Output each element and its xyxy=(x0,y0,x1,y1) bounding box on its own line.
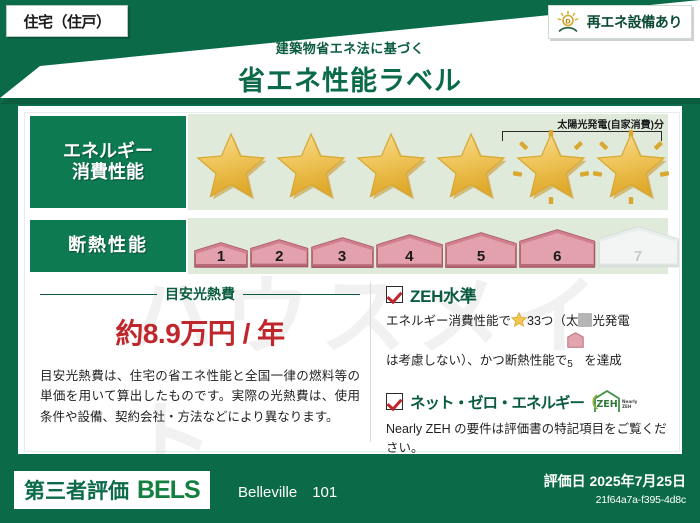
obscured-character-blot xyxy=(578,313,592,327)
svg-text:ZEH: ZEH xyxy=(596,399,617,410)
insulation-level-house: 3 xyxy=(311,237,374,268)
bels-plate: 第三者評価 BELS xyxy=(14,471,210,509)
evaluation-date: 評価日 2025年7月25日 xyxy=(544,471,686,491)
energy-star-icon xyxy=(352,130,430,204)
net-zero-energy-row: ネット・ゼロ・エネルギー ZEH Nearly ZEH xyxy=(386,389,672,415)
insulation-level-number: 3 xyxy=(311,248,374,265)
label-card: ハウスメイト エネルギー 消費性能 太陽光発電(自家消費)分 断熱性能 1234… xyxy=(16,104,684,456)
energy-tag-line1: エネルギー xyxy=(63,141,153,162)
insulation-level-scale: 1234567 xyxy=(188,218,684,274)
insulation-performance-tag: 断熱性能 xyxy=(28,218,188,274)
net-zero-energy-description: Nearly ZEH の要件は評価書の特記項目をご覧ください。 xyxy=(386,420,672,457)
heading-rule-left xyxy=(40,294,157,295)
zeh-standard-row: ZEH水準 xyxy=(386,282,672,307)
insulation-level-number: 1 xyxy=(194,248,248,265)
insulation-performance-row: 断熱性能 1234567 xyxy=(28,218,668,274)
energy-star-icon xyxy=(432,130,510,204)
building-name: Belleville 101 xyxy=(238,481,337,502)
insulation-level-number: 6 xyxy=(519,248,596,265)
header-titles: 建築物省エネ法に基づく 省エネ性能ラベル xyxy=(0,38,700,98)
label-footer: 第三者評価 BELS Belleville 101 評価日 2025年7月25日… xyxy=(0,461,700,523)
zeh-desc-part-d: は考慮しない）、かつ断熱性能で xyxy=(386,353,567,367)
header-subtitle: 建築物省エネ法に基づく xyxy=(0,38,700,57)
card-vertical-divider xyxy=(370,282,371,442)
evaluation-id: 21f64a7a-f395-4d8c xyxy=(544,494,686,506)
net-zero-energy-title: ネット・ゼロ・エネルギー xyxy=(410,391,584,413)
zeh-logo-icon: ZEH Nearly ZEH xyxy=(591,389,637,415)
insulation-level-house: 1 xyxy=(194,242,248,268)
insulation-level-number: 2 xyxy=(250,248,309,265)
insulation-level-house: 5 xyxy=(445,232,517,268)
bels-en-label: BELS xyxy=(137,476,200,505)
zeh-desc-part-a: エネルギー消費性能で xyxy=(386,314,511,328)
evaluation-info: 評価日 2025年7月25日 21f64a7a-f395-4d8c xyxy=(544,471,686,506)
solar-star-icon xyxy=(512,130,590,204)
utility-cost-note: 目安光熱費は、住宅の省エネ性能と全国一律の燃料等の単価を用いて算出したものです。… xyxy=(40,366,360,427)
zeh-desc-star-count: 3 xyxy=(527,314,534,328)
net-zero-energy-block: ネット・ゼロ・エネルギー ZEH Nearly ZEH Nearly ZEH の… xyxy=(386,389,672,457)
zeh-certification-block: ZEH水準 エネルギー消費性能で33つ（太光発電は考慮しない）、かつ断熱性能で5… xyxy=(386,282,672,456)
insulation-level-number: 7 xyxy=(598,248,679,265)
energy-star-icon xyxy=(272,130,350,204)
utility-cost-heading-row: 目安光熱費 xyxy=(40,284,360,304)
insulation-level-house: 6 xyxy=(519,229,596,268)
inline-insulation-badge: 5 xyxy=(567,332,584,348)
energy-performance-tag: エネルギー 消費性能 xyxy=(28,114,188,210)
zeh-desc-part-c: 光発電 xyxy=(592,314,630,328)
solar-star-icon xyxy=(592,130,670,204)
insulation-tag-label: 断熱性能 xyxy=(68,235,148,256)
heading-rule-right xyxy=(243,294,360,295)
zeh-desc-part-e: を達成 xyxy=(584,353,622,367)
utility-cost-heading: 目安光熱費 xyxy=(165,284,235,304)
zeh-standard-checkbox-icon xyxy=(386,286,403,303)
svg-text:D: D xyxy=(565,17,571,25)
insulation-level-number: 4 xyxy=(376,248,444,265)
energy-tag-line2: 消費性能 xyxy=(72,162,144,183)
insulation-level-house: 2 xyxy=(250,239,309,268)
inline-star-icon xyxy=(511,312,527,327)
svg-text:ZEH: ZEH xyxy=(622,404,632,409)
utility-cost-block: 目安光熱費 約8.9万円 / 年 目安光熱費は、住宅の省エネ性能と全国一律の燃料… xyxy=(40,284,360,427)
bels-energy-label: 住宅（住戸） D 再エネ設備あり 建築物省エネ法に基づく 省エネ性能ラベル ハウ… xyxy=(0,0,700,523)
energy-performance-row: エネルギー 消費性能 太陽光発電(自家消費)分 xyxy=(28,114,668,210)
energy-stars-area: 太陽光発電(自家消費)分 xyxy=(188,114,668,210)
zeh-desc-part-b: 3つ（太 xyxy=(534,314,578,328)
energy-star-rating xyxy=(188,128,668,206)
sun-energy-icon: D xyxy=(555,10,581,34)
renewable-equipment-label: 再エネ設備あり xyxy=(587,12,682,32)
zeh-standard-title: ZEH水準 xyxy=(410,282,477,307)
insulation-level-house: 4 xyxy=(376,234,444,268)
bels-jp-label: 第三者評価 xyxy=(24,475,129,505)
zeh-standard-description: エネルギー消費性能で33つ（太光発電は考慮しない）、かつ断熱性能で5を達成 xyxy=(386,312,672,371)
energy-star-icon xyxy=(192,130,270,204)
housing-type-badge: 住宅（住戸） xyxy=(6,5,128,37)
housing-type-label: 住宅（住戸） xyxy=(23,11,110,32)
header-title: 省エネ性能ラベル xyxy=(0,59,700,98)
insulation-level-house: 7 xyxy=(598,226,679,268)
insulation-level-number: 5 xyxy=(445,248,517,265)
renewable-equipment-badge: D 再エネ設備あり xyxy=(548,5,692,39)
inline-insulation-number: 5 xyxy=(567,359,573,370)
net-zero-checkbox-icon xyxy=(386,393,403,410)
utility-cost-value: 約8.9万円 / 年 xyxy=(40,312,360,352)
